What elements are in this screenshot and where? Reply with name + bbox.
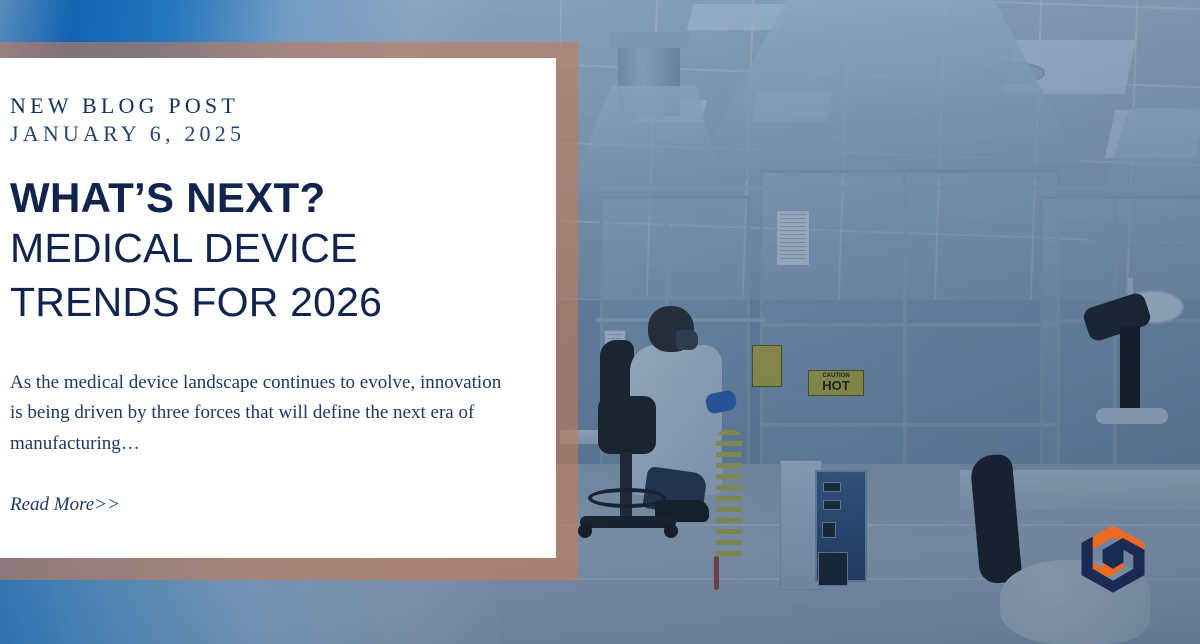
post-date: JANUARY 6, 2025: [10, 120, 516, 148]
blog-post-card: NEW BLOG POST JANUARY 6, 2025 WHAT’S NEX…: [0, 58, 556, 558]
page-title: WHAT’S NEXT? MEDICAL DEVICE TRENDS FOR 2…: [10, 174, 516, 329]
headline-line-2: MEDICAL DEVICE: [10, 221, 516, 275]
headline-line-1: WHAT’S NEXT?: [10, 174, 516, 221]
eyebrow-label: NEW BLOG POST: [10, 92, 516, 120]
headline-line-3: TRENDS FOR 2026: [10, 275, 516, 329]
hexagon-spiral-logo[interactable]: [1078, 524, 1148, 594]
post-excerpt: As the medical device landscape continue…: [10, 368, 516, 460]
read-more-link[interactable]: Read More>>: [10, 494, 120, 516]
